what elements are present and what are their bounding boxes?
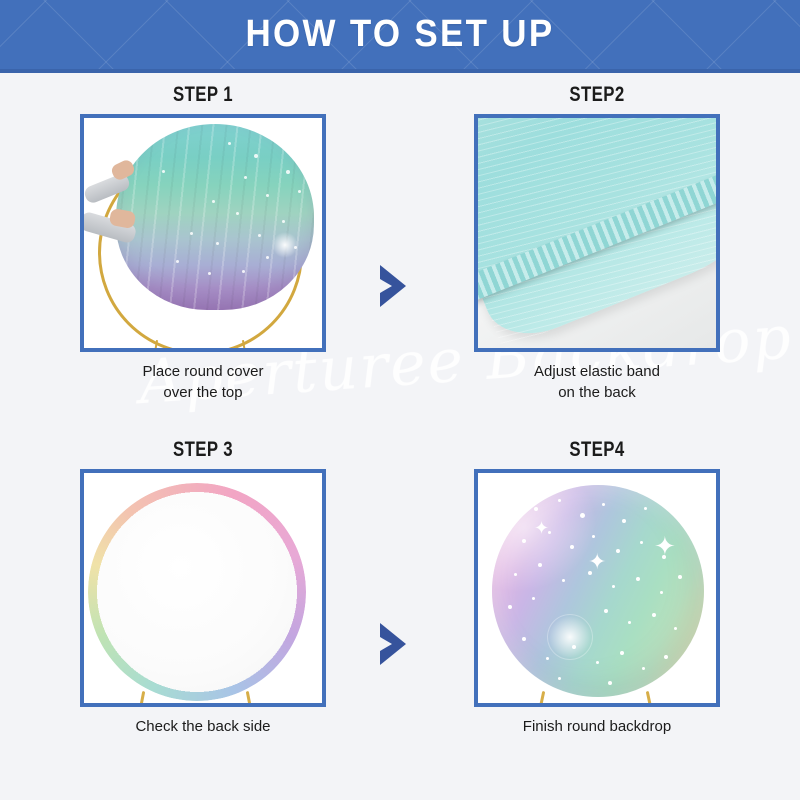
rainbow-rim: [88, 483, 306, 701]
step-1-caption-line2: over the top: [58, 382, 348, 403]
finished-backdrop-disc: ✦ ✦ ✦: [492, 485, 704, 697]
step-3-caption-line1: Check the back side: [58, 716, 348, 737]
step-card-2: STEP2 Adjust elastic band on the back: [452, 83, 742, 404]
steps-grid: STEP 1: [0, 73, 800, 800]
step-2-caption: Adjust elastic band on the back: [452, 361, 742, 404]
stand-leg-left: [538, 691, 546, 707]
fabric-glow: [272, 232, 298, 258]
fabric-folds: [116, 124, 314, 310]
step-4-caption: Finish round backdrop: [452, 716, 742, 737]
stand-leg-right: [646, 691, 654, 707]
step-card-1: STEP 1: [58, 83, 348, 404]
step-1-caption: Place round cover over the top: [58, 361, 348, 404]
step-1-caption-line1: Place round cover: [58, 361, 348, 382]
disc-sheen: [492, 485, 615, 613]
step-card-3: STEP 3 Check the back side: [58, 438, 348, 737]
stand-leg-right: [246, 691, 254, 707]
step-2-label: STEP2: [481, 83, 713, 107]
step-3-illustration: [84, 473, 322, 703]
step-2-image-frame: [474, 114, 720, 352]
bokeh-highlight: [548, 615, 592, 659]
step-3-image-frame: [80, 469, 326, 707]
step-1-label: STEP 1: [87, 83, 319, 107]
step-3-label: STEP 3: [87, 438, 319, 462]
chevron-right-icon: [376, 621, 410, 667]
page-title: HOW TO SET UP: [32, 0, 768, 69]
step-1-image-frame: [80, 114, 326, 352]
step-4-caption-line1: Finish round backdrop: [452, 716, 742, 737]
step-card-4: STEP4: [452, 438, 742, 737]
step-2-caption-line1: Adjust elastic band: [452, 361, 742, 382]
step-3-caption: Check the back side: [58, 716, 348, 737]
step-2-caption-line2: on the back: [452, 382, 742, 403]
step-4-image-frame: ✦ ✦ ✦: [474, 469, 720, 707]
step-4-label: STEP4: [481, 438, 713, 462]
page-header: HOW TO SET UP: [0, 0, 800, 69]
step-2-illustration: [478, 118, 716, 348]
chevron-right-icon: [376, 263, 410, 309]
stand-leg-left: [138, 691, 146, 707]
gradient-cover-fabric: [116, 124, 314, 310]
step-4-illustration: ✦ ✦ ✦: [478, 473, 716, 703]
step-1-illustration: [84, 118, 322, 348]
